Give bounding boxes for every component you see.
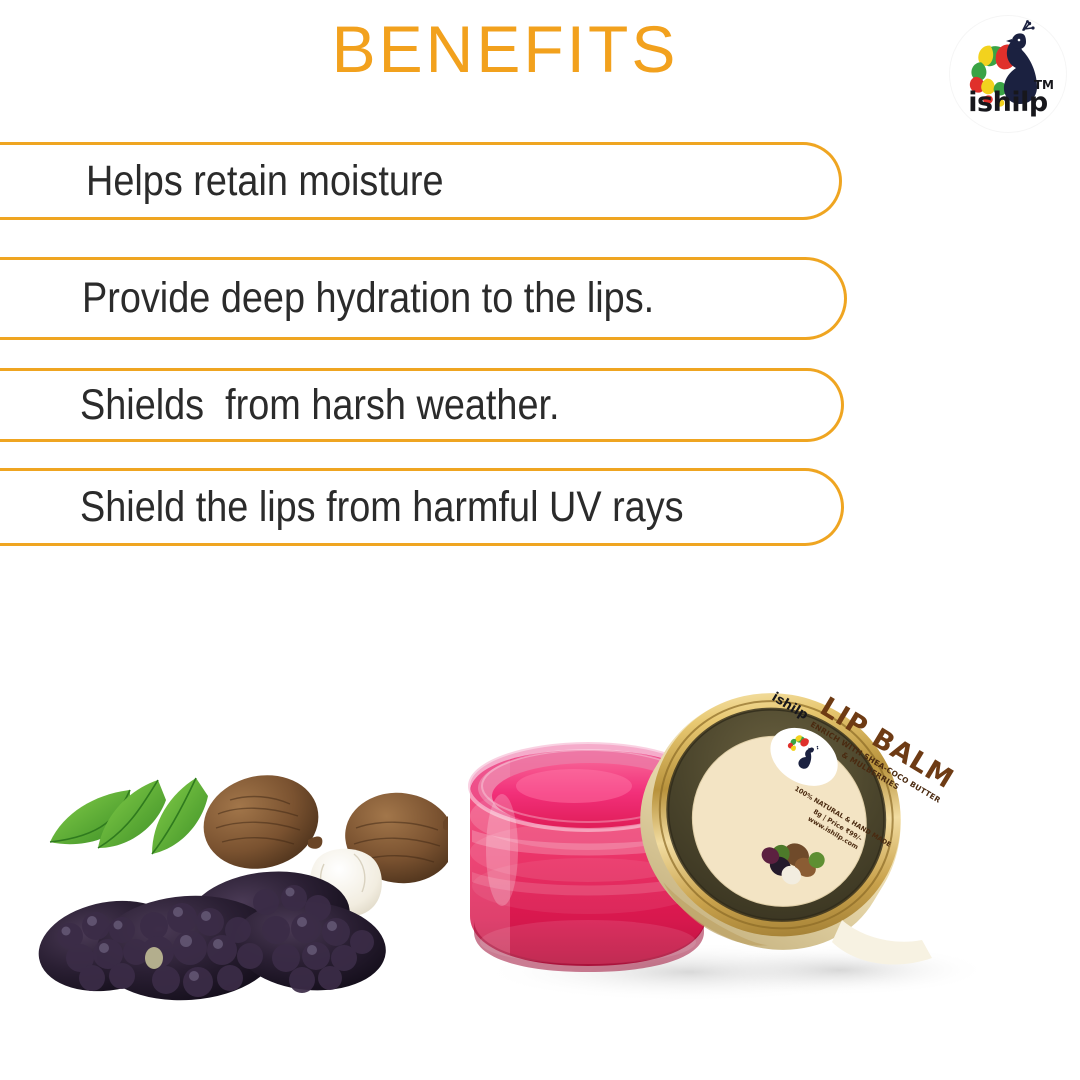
brand-wordmark: ishilp (950, 89, 1066, 116)
benefit-pill-4: Shield the lips from harmful UV rays (0, 468, 844, 546)
benefit-text-4: Shield the lips from harmful UV rays (80, 486, 684, 529)
benefit-pill-1: Helps retain moisture (0, 142, 842, 220)
ingredients-photo (18, 750, 448, 1010)
leaf-icon (50, 778, 208, 854)
page-title: BENEFITS (0, 16, 1010, 82)
benefit-text-3: Shields from harsh weather. (80, 384, 560, 427)
benefit-pill-3: Shields from harsh weather. (0, 368, 844, 442)
benefit-pill-2: Provide deep hydration to the lips. (0, 257, 847, 340)
benefit-text-2: Provide deep hydration to the lips. (82, 277, 654, 320)
product-jar (440, 620, 980, 1040)
brand-trademark: TM (1034, 79, 1054, 91)
benefits-list: Helps retain moisture Provide deep hydra… (0, 142, 1080, 546)
product-scene (0, 600, 1080, 1080)
brand-logo: ishilp TM (950, 16, 1066, 132)
benefits-product-page: BENEFITS (0, 0, 1080, 1080)
benefit-text-1: Helps retain moisture (86, 160, 444, 203)
